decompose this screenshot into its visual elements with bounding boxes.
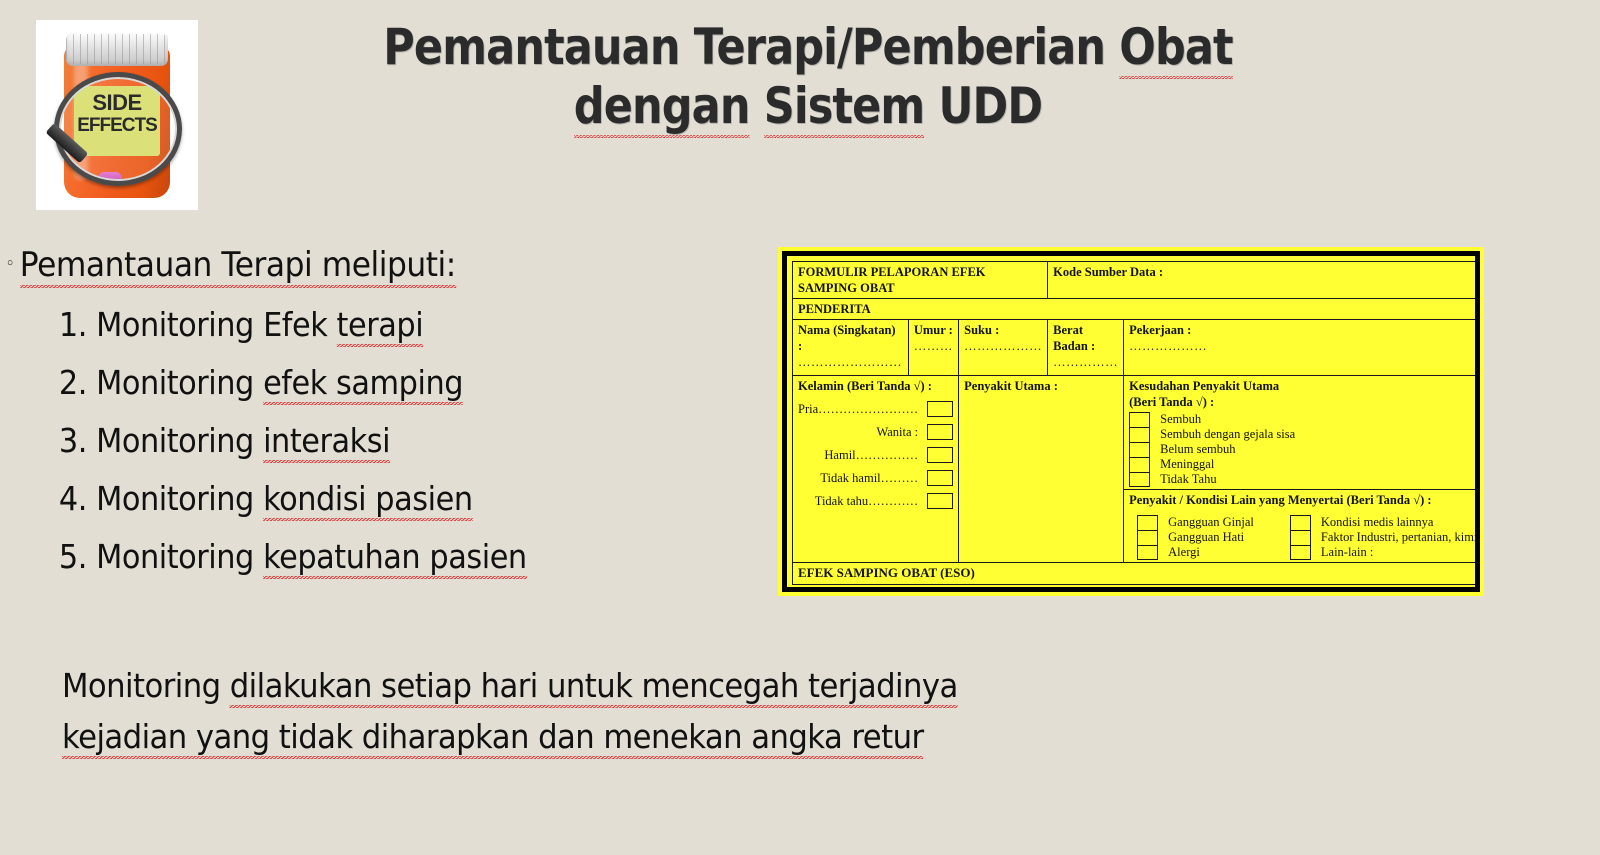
penyakit-utama-title: Penyakit Utama : (964, 378, 1118, 394)
field-berat-value[interactable]: …………… (1053, 354, 1118, 373)
bullet-circle-icon: ◦ (6, 255, 15, 274)
side-effects-image: SIDE EFFECTS (36, 20, 198, 210)
bottle-cap-ridges (66, 34, 168, 64)
form-border: FORMULIR PELAPORAN EFEK SAMPING OBAT Kod… (782, 251, 1480, 592)
kondisi-lain-title: Penyakit / Kondisi Lain yang Menyertai (… (1129, 492, 1480, 508)
checkbox-meninggal[interactable] (1129, 457, 1150, 472)
kesudahan-title-1: Kesudahan Penyakit Utama (1129, 378, 1480, 394)
form-section-penderita: PENDERITA (793, 299, 1481, 320)
gender-option-pria[interactable]: Pria…………………… (798, 401, 953, 417)
kesudahan-label-1: Sembuh dengan gejala sisa (1160, 427, 1295, 442)
title-line-1: Pemantauan Terapi/Pemberian Obat (301, 18, 1316, 77)
gender-option-tidak-tahu[interactable]: Tidak tahu………… (798, 493, 953, 509)
checkbox-lain-lain[interactable] (1290, 545, 1311, 560)
field-pekerjaan-value[interactable]: ……………… (1129, 338, 1480, 357)
field-berat-badan: Berat Badan : …………… (1048, 320, 1124, 376)
title-line-2: dengan Sistem UDD (301, 77, 1316, 136)
field-suku-value[interactable]: ……………… (964, 338, 1042, 357)
kondisi-lain-right: Kondisi medis lainnya Faktor Industri, p… (1290, 515, 1480, 560)
list-item-3: 3. Monitoring interaksi (0, 412, 699, 470)
clinical-row: Kelamin (Beri Tanda √) : Pria…………………… Wa… (793, 376, 1481, 490)
closing-line-2: kejadian yang tidak diharapkan dan menek… (62, 711, 1271, 762)
list-item-1: 1. Monitoring Efek terapi (0, 296, 699, 354)
form-table: FORMULIR PELAPORAN EFEK SAMPING OBAT Kod… (792, 261, 1480, 585)
gender-label-pria: Pria…………………… (798, 401, 918, 417)
magnifying-glass-icon (54, 72, 182, 186)
eso-report-form: FORMULIR PELAPORAN EFEK SAMPING OBAT Kod… (778, 247, 1484, 596)
field-umur-value[interactable]: ……… (914, 338, 953, 357)
kesudahan-options: Sembuh Sembuh dengan gejala sisa Belum s… (1129, 412, 1480, 487)
checkbox-belum-sembuh[interactable] (1129, 442, 1150, 457)
eso-section-label: EFEK SAMPING OBAT (ESO) (793, 563, 1481, 585)
patient-fields-row: Nama (Singkatan) : …………………… Umur : ……… S… (793, 320, 1481, 376)
kesudahan-label-4: Tidak Tahu (1160, 472, 1295, 487)
kesudahan-label-stack: Sembuh Sembuh dengan gejala sisa Belum s… (1160, 412, 1295, 487)
field-umur: Umur : ……… (908, 320, 958, 376)
field-suku-label: Suku : (964, 322, 1042, 338)
field-pekerjaan-label: Pekerjaan : (1129, 322, 1480, 338)
checkbox-gangguan-ginjal[interactable] (1137, 515, 1158, 530)
penyakit-utama-cell: Penyakit Utama : (959, 376, 1124, 563)
monitoring-list: 1. Monitoring Efek terapi 2. Monitoring … (0, 296, 760, 586)
list-item-5: 5. Monitoring kepatuhan pasien (0, 528, 699, 586)
kesudahan-label-3: Meninggal (1160, 457, 1295, 472)
checkbox-faktor-industri[interactable] (1290, 530, 1311, 545)
slide-title: Pemantauan Terapi/Pemberian Obat dengan … (301, 18, 1316, 136)
gender-cell: Kelamin (Beri Tanda √) : Pria…………………… Wa… (793, 376, 959, 563)
checkbox-kondisi-medis-lainnya[interactable] (1290, 515, 1311, 530)
checkbox-tidak-hamil[interactable] (927, 470, 953, 486)
kondisi-lain-left: Gangguan Ginjal Gangguan Hati Alergi (1137, 515, 1254, 560)
kondisi-left-label-2: Alergi (1168, 545, 1254, 560)
form-title-cell: FORMULIR PELAPORAN EFEK SAMPING OBAT (793, 262, 1048, 299)
checkbox-sembuh-gejala-sisa[interactable] (1129, 427, 1150, 442)
kondisi-lain-columns: Gangguan Ginjal Gangguan Hati Alergi Ko (1129, 513, 1480, 560)
gender-label-tidak-hamil: Tidak hamil……… (820, 470, 918, 486)
kondisi-left-checkbox-stack (1137, 515, 1158, 560)
checkbox-gangguan-hati[interactable] (1137, 530, 1158, 545)
gender-title: Kelamin (Beri Tanda √) : (798, 378, 953, 394)
list-item-4: 4. Monitoring kondisi pasien (0, 470, 699, 528)
field-pekerjaan: Pekerjaan : ……………… (1124, 320, 1480, 376)
kesudahan-title-2: (Beri Tanda √) : (1129, 394, 1480, 410)
checkbox-tidak-tahu[interactable] (927, 493, 953, 509)
closing-paragraph: Monitoring dilakukan setiap hari untuk m… (62, 660, 1271, 762)
kondisi-right-label-1: Faktor Industri, pertanian, kimia. (1321, 530, 1480, 545)
list-item-2: 2. Monitoring efek samping (0, 354, 699, 412)
lead-bullet-line: ◦Pemantauan Terapi meliputi: (0, 246, 699, 284)
kondisi-lain-cell: Penyakit / Kondisi Lain yang Menyertai (… (1124, 490, 1480, 563)
kesudahan-checkbox-stack (1129, 412, 1150, 487)
gender-label-tidak-tahu: Tidak tahu………… (815, 493, 918, 509)
gender-label-wanita: Wanita : (876, 424, 918, 440)
kesudahan-cell: Kesudahan Penyakit Utama (Beri Tanda √) … (1124, 376, 1480, 490)
field-umur-label: Umur : (914, 322, 953, 338)
form-source-cell: Kode Sumber Data : (1048, 262, 1480, 299)
kondisi-right-label-0: Kondisi medis lainnya (1321, 515, 1480, 530)
field-berat-label: Berat Badan : (1053, 322, 1118, 354)
checkbox-alergi[interactable] (1137, 545, 1158, 560)
kondisi-right-checkbox-stack (1290, 515, 1311, 560)
gender-label-hamil: Hamil…………… (824, 447, 918, 463)
kesudahan-label-0: Sembuh (1160, 412, 1295, 427)
closing-line-1: Monitoring dilakukan setiap hari untuk m… (62, 660, 1271, 711)
checkbox-wanita[interactable] (927, 424, 953, 440)
lead-text: Pemantauan Terapi meliputi: (20, 245, 456, 289)
kondisi-left-label-stack: Gangguan Ginjal Gangguan Hati Alergi (1168, 515, 1254, 560)
checkbox-hamil[interactable] (927, 447, 953, 463)
kondisi-right-label-2: Lain-lain : (1321, 545, 1480, 560)
checkbox-pria[interactable] (927, 401, 953, 417)
form-section-row: PENDERITA (793, 299, 1481, 320)
field-nama-value[interactable]: …………………… (798, 354, 903, 373)
kondisi-right-label-stack: Kondisi medis lainnya Faktor Industri, p… (1321, 515, 1480, 560)
kondisi-left-label-0: Gangguan Ginjal (1168, 515, 1254, 530)
gender-option-wanita[interactable]: Wanita : (798, 424, 953, 440)
content-column: ◦Pemantauan Terapi meliputi: 1. Monitori… (0, 246, 760, 586)
gender-option-hamil[interactable]: Hamil…………… (798, 447, 953, 463)
eso-footer-row: EFEK SAMPING OBAT (ESO) (793, 563, 1481, 585)
gender-option-tidak-hamil[interactable]: Tidak hamil……… (798, 470, 953, 486)
title-line-1-text: Obat (1119, 18, 1232, 80)
field-nama: Nama (Singkatan) : …………………… (793, 320, 909, 376)
field-nama-label: Nama (Singkatan) : (798, 322, 903, 354)
field-suku: Suku : ……………… (959, 320, 1048, 376)
form-header-row: FORMULIR PELAPORAN EFEK SAMPING OBAT Kod… (793, 262, 1481, 299)
checkbox-tidak-tahu-outcome[interactable] (1129, 472, 1150, 487)
checkbox-sembuh[interactable] (1129, 412, 1150, 427)
kondisi-left-label-1: Gangguan Hati (1168, 530, 1254, 545)
kesudahan-label-2: Belum sembuh (1160, 442, 1295, 457)
